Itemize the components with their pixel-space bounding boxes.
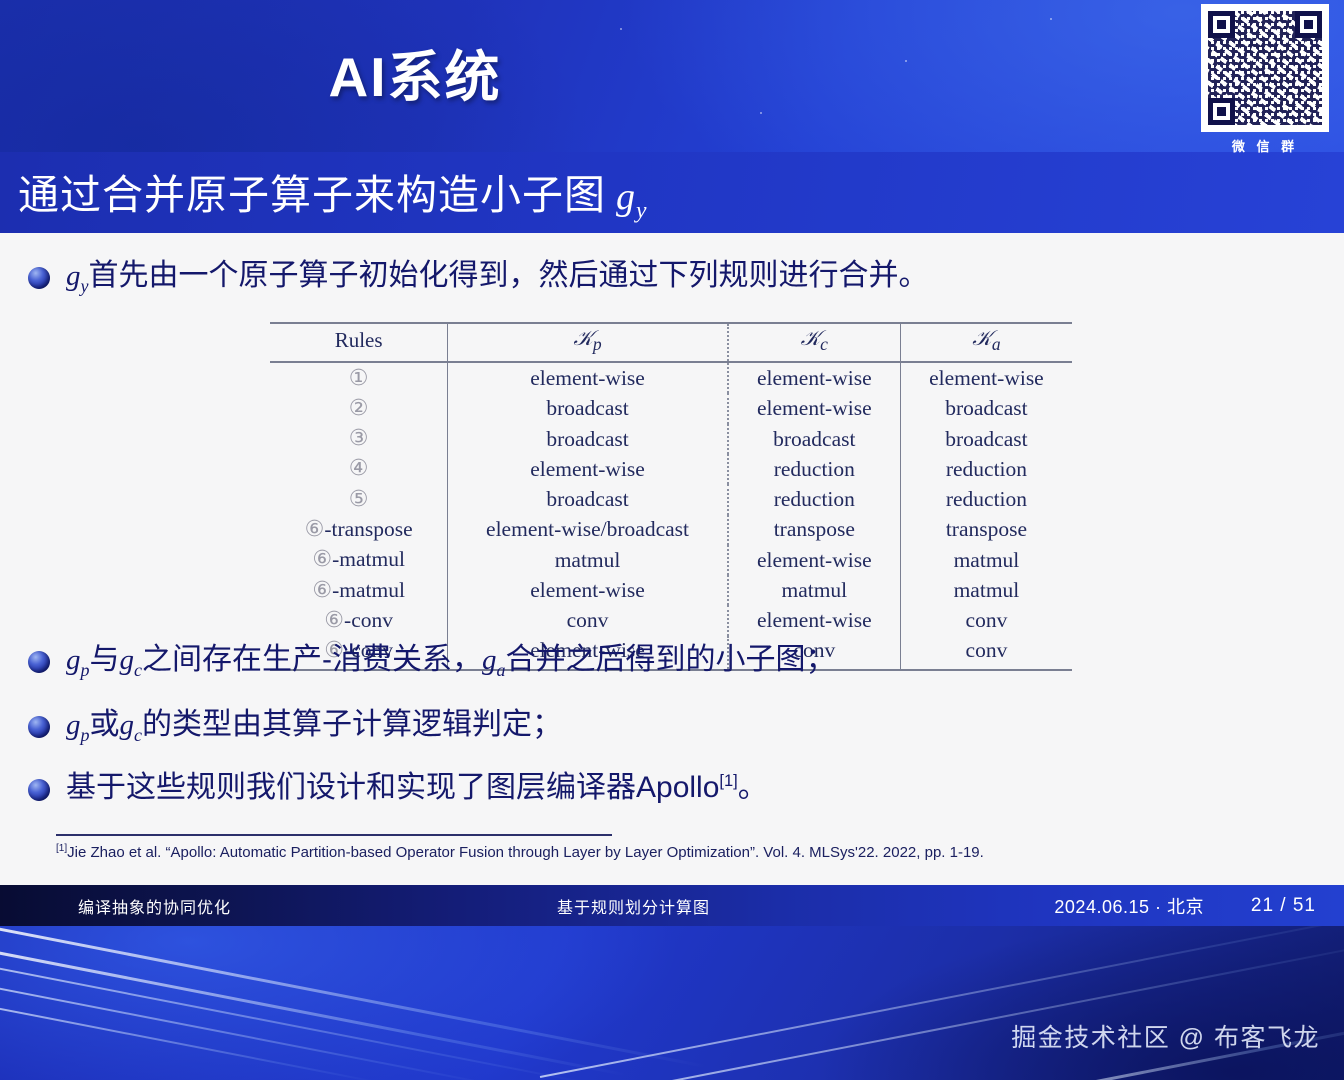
header-speck xyxy=(1050,18,1052,20)
bullet-2-part-2: 合并之后得到的小子图； xyxy=(505,643,835,676)
rule-circle-number: ⑥ xyxy=(305,517,325,542)
bullet-dot-icon xyxy=(28,779,50,801)
rule-circle-number: ④ xyxy=(349,456,369,481)
slide-subtitle: 通过合并原子算子来构造小子图gy xyxy=(18,161,647,225)
cell-gp: conv xyxy=(448,605,728,635)
math-var-gp: gp xyxy=(66,644,89,676)
rule-circle-number: ⑥ xyxy=(312,578,332,603)
decor-streak xyxy=(0,940,627,1077)
decor-streak xyxy=(600,930,1344,1080)
cell-rule: ⑥-transpose xyxy=(270,515,448,545)
rule-circle-number: ① xyxy=(349,366,369,391)
table-header-row: Rules 𝒦p 𝒦c 𝒦a xyxy=(270,323,1072,362)
bullet-text-2: gp与gc之间存在生产-消费关系，ga合并之后得到的小子图； xyxy=(66,641,835,681)
bullet-item-4: 基于这些规则我们设计和实现了图层编译器Apollo[1]。 xyxy=(28,769,768,807)
rules-table-body: ①element-wiseelement-wiseelement-wise②br… xyxy=(270,362,1072,670)
header-speck xyxy=(760,112,762,114)
math-var-gc: gc xyxy=(119,709,141,741)
rules-table: Rules 𝒦p 𝒦c 𝒦a ①element-wiseelement-wise… xyxy=(270,322,1072,671)
rule-suffix: -matmul xyxy=(332,547,405,571)
bullet-item-2: gp与gc之间存在生产-消费关系，ga合并之后得到的小子图； xyxy=(28,641,835,681)
cell-gc: reduction xyxy=(728,454,901,484)
footnote-mark: [1] xyxy=(56,843,67,854)
cell-rule: ① xyxy=(270,362,448,393)
bullet-4-label: 基于这些规则我们设计和实现了图层编译器Apollo xyxy=(66,771,719,804)
citation-ref[interactable]: [1] xyxy=(719,772,737,790)
bullet-item-1: gy首先由一个原子算子初始化得到，然后通过下列规则进行合并。 xyxy=(28,257,928,297)
rule-circle-number: ② xyxy=(349,396,369,421)
footnote-divider xyxy=(56,834,612,836)
col-header-gc: 𝒦c xyxy=(728,323,901,362)
header-speck xyxy=(620,28,622,30)
cell-ga: conv xyxy=(900,605,1072,635)
bullet-dot-icon xyxy=(28,651,50,673)
cell-gc: element-wise xyxy=(728,362,901,393)
math-var-gy: gy xyxy=(66,260,88,292)
rule-circle-number: ⑥ xyxy=(324,608,344,633)
math-var-ga: ga xyxy=(482,644,505,676)
table-row: ④element-wisereductionreduction xyxy=(270,454,1072,484)
cell-ga: matmul xyxy=(900,575,1072,605)
slide-body: gy首先由一个原子算子初始化得到，然后通过下列规则进行合并。 Rules 𝒦p … xyxy=(0,233,1344,885)
page-title: AI系统 xyxy=(0,49,830,107)
qr-finder-bottom-left xyxy=(1208,98,1235,125)
bullet-dot-icon xyxy=(28,267,50,289)
cell-ga: element-wise xyxy=(900,362,1072,393)
cell-rule: ④ xyxy=(270,454,448,484)
cell-rule: ⑥-matmul xyxy=(270,575,448,605)
subtitle-label: 通过合并原子算子来构造小子图 xyxy=(18,172,606,218)
header-speck xyxy=(905,60,907,62)
cell-gp: broadcast xyxy=(448,424,728,454)
footer-page-number: 21 / 51 xyxy=(1251,895,1316,917)
qr-finder-top-left xyxy=(1208,11,1235,38)
cell-ga: matmul xyxy=(900,545,1072,575)
table-row: ③broadcastbroadcastbroadcast xyxy=(270,424,1072,454)
footer-subsection-title: 基于规则划分计算图 xyxy=(557,894,710,918)
bullet-3-part-0: 或 xyxy=(89,708,119,741)
cell-gc: element-wise xyxy=(728,545,901,575)
cell-rule: ② xyxy=(270,393,448,423)
bullet-3-part-1: 的类型由其算子计算逻辑判定； xyxy=(142,708,562,741)
cell-gp: element-wise xyxy=(448,454,728,484)
table-row: ②broadcastelement-wisebroadcast xyxy=(270,393,1072,423)
cell-gp: element-wise xyxy=(448,575,728,605)
cell-ga: conv xyxy=(900,636,1072,671)
bullet-2-part-0: 与 xyxy=(89,643,119,676)
cell-gc: reduction xyxy=(728,484,901,514)
math-var-gp: gp xyxy=(66,709,89,741)
math-var-gc: gc xyxy=(119,644,141,676)
table-row: ⑥-matmulmatmulelement-wisematmul xyxy=(270,545,1072,575)
rule-circle-number: ⑤ xyxy=(349,487,369,512)
bottom-decoration xyxy=(0,926,1344,1080)
cell-ga: broadcast xyxy=(900,424,1072,454)
presentation-slide: AI系统 微 信 群 通过合并原子算子来构造小子图gy gy首先由一个原子算子初… xyxy=(0,0,1344,1080)
rule-suffix: -conv xyxy=(344,608,393,632)
cell-gp: element-wise/broadcast xyxy=(448,515,728,545)
cell-gc: matmul xyxy=(728,575,901,605)
subtitle-math-var: gy xyxy=(606,176,647,218)
col-header-rules: Rules xyxy=(270,323,448,362)
cell-rule: ⑥-conv xyxy=(270,605,448,635)
cell-rule: ③ xyxy=(270,424,448,454)
rules-table-container: Rules 𝒦p 𝒦c 𝒦a ①element-wiseelement-wise… xyxy=(270,322,1072,671)
qr-finder-top-right xyxy=(1295,11,1322,38)
footnote: [1]Jie Zhao et al. “Apollo: Automatic Pa… xyxy=(56,843,984,861)
bullet-dot-icon xyxy=(28,716,50,738)
table-row: ⑥-matmulelement-wisematmulmatmul xyxy=(270,575,1072,605)
slide-footer: 编译抽象的协同优化 基于规则划分计算图 2024.06.15 · 北京 21 /… xyxy=(0,885,1344,926)
cell-ga: broadcast xyxy=(900,393,1072,423)
cell-gc: element-wise xyxy=(728,393,901,423)
decor-streak xyxy=(0,1002,382,1080)
bullet-item-3: gp或gc的类型由其算子计算逻辑判定； xyxy=(28,706,562,746)
cell-gc: element-wise xyxy=(728,605,901,635)
bullet-text-1: gy首先由一个原子算子初始化得到，然后通过下列规则进行合并。 xyxy=(66,257,928,297)
cell-gp: broadcast xyxy=(448,393,728,423)
qr-label: 微 信 群 xyxy=(1194,136,1336,155)
bullet-text-4: 基于这些规则我们设计和实现了图层编译器Apollo[1]。 xyxy=(66,769,768,807)
cell-ga: reduction xyxy=(900,484,1072,514)
cell-rule: ⑥-matmul xyxy=(270,545,448,575)
rule-suffix: -matmul xyxy=(332,578,405,602)
rule-circle-number: ⑥ xyxy=(312,547,332,572)
cell-gp: matmul xyxy=(448,545,728,575)
rule-circle-number: ③ xyxy=(349,426,369,451)
slide-subtitle-bar: 通过合并原子算子来构造小子图gy xyxy=(0,152,1344,233)
rule-suffix: -transpose xyxy=(324,517,412,541)
cell-ga: reduction xyxy=(900,454,1072,484)
decor-streak xyxy=(0,978,500,1080)
bullet-text-3: gp或gc的类型由其算子计算逻辑判定； xyxy=(66,706,562,746)
footnote-text: Jie Zhao et al. “Apollo: Automatic Parti… xyxy=(67,844,984,861)
bullet-4-tail: 。 xyxy=(738,771,768,804)
table-row: ①element-wiseelement-wiseelement-wise xyxy=(270,362,1072,393)
footer-date: 2024.06.15 · 北京 xyxy=(1054,893,1204,919)
cell-gc: transpose xyxy=(728,515,901,545)
col-header-ga: 𝒦a xyxy=(900,323,1072,362)
decor-streak xyxy=(0,960,588,1080)
cell-ga: transpose xyxy=(900,515,1072,545)
table-row: ⑤broadcastreductionreduction xyxy=(270,484,1072,514)
slide-header: AI系统 xyxy=(0,0,1344,152)
watermark: 掘金技术社区 @ 布客飞龙 xyxy=(1011,1018,1320,1054)
bullet-1-label: 首先由一个原子算子初始化得到，然后通过下列规则进行合并。 xyxy=(88,259,928,292)
cell-rule: ⑤ xyxy=(270,484,448,514)
qr-code-icon[interactable] xyxy=(1201,4,1329,132)
table-row: ⑥-transposeelement-wise/broadcasttranspo… xyxy=(270,515,1072,545)
cell-gp: element-wise xyxy=(448,362,728,393)
footer-section-title: 编译抽象的协同优化 xyxy=(78,894,231,918)
bullet-2-part-1: 之间存在生产-消费关系， xyxy=(142,643,482,676)
table-row: ⑥-convconvelement-wiseconv xyxy=(270,605,1072,635)
decor-streak xyxy=(0,926,706,1068)
cell-gp: broadcast xyxy=(448,484,728,514)
wechat-group-qr[interactable]: 微 信 群 xyxy=(1194,4,1336,155)
col-header-gp: 𝒦p xyxy=(448,323,728,362)
cell-gc: broadcast xyxy=(728,424,901,454)
